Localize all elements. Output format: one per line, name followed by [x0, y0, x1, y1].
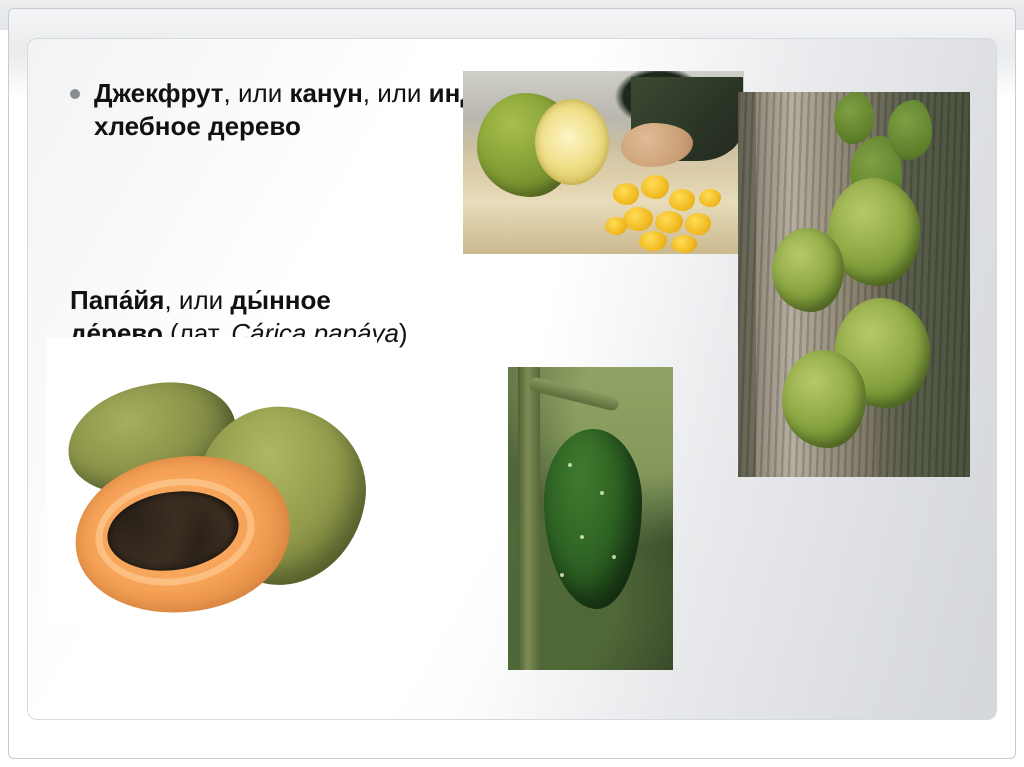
papaya-fruit-spot	[600, 491, 604, 495]
jackfruit-tree-leaf	[834, 92, 874, 144]
jackfruit-photo-pod	[699, 189, 721, 207]
jackfruit-photo-pod	[655, 211, 683, 233]
jackfruit-sep-1: , или	[224, 78, 290, 108]
papaya-fruit-spot	[612, 555, 616, 559]
jackfruit-photo-pod	[641, 175, 669, 199]
jackfruit-photo-pod	[669, 189, 695, 211]
slide-root: Тропические плоды Джекфрут, или канун, и…	[0, 0, 1024, 767]
papaya-sep-1: , или	[164, 285, 230, 315]
papaya-fruit-spot	[560, 573, 564, 577]
jackfruit-photo-pod	[623, 207, 653, 231]
jackfruit-tree-fruit	[772, 228, 844, 312]
jackfruit-photo-cut-face	[535, 99, 609, 185]
jackfruit-name-1: Джекфрут	[94, 78, 224, 108]
jackfruit-tree-photo	[738, 92, 970, 477]
jackfruit-photo-pod	[613, 183, 639, 205]
papaya-tree-photo	[508, 367, 673, 670]
jackfruit-name-2: канун	[289, 78, 362, 108]
jackfruit-photo-pod	[639, 231, 667, 251]
papaya-name-2: ды́нное	[230, 285, 330, 315]
bullet-dot-icon	[70, 89, 80, 99]
jackfruit-photo-pod	[685, 213, 711, 235]
papaya-name-1: Папа́йя	[70, 285, 164, 315]
jackfruit-cut-photo	[463, 71, 744, 254]
jackfruit-photo-pod	[671, 235, 697, 253]
papaya-fruit-spot	[580, 535, 584, 539]
papaya-latin-suffix: )	[399, 318, 408, 348]
jackfruit-tree-fruit	[782, 350, 866, 448]
papaya-fruit-spot	[568, 463, 572, 467]
jackfruit-tree-leaf	[888, 100, 932, 160]
papaya-tree-stem	[518, 367, 540, 670]
papaya-fruits-photo	[47, 337, 377, 625]
jackfruit-sep-2: , или	[363, 78, 429, 108]
jackfruit-photo-pod	[605, 217, 627, 235]
